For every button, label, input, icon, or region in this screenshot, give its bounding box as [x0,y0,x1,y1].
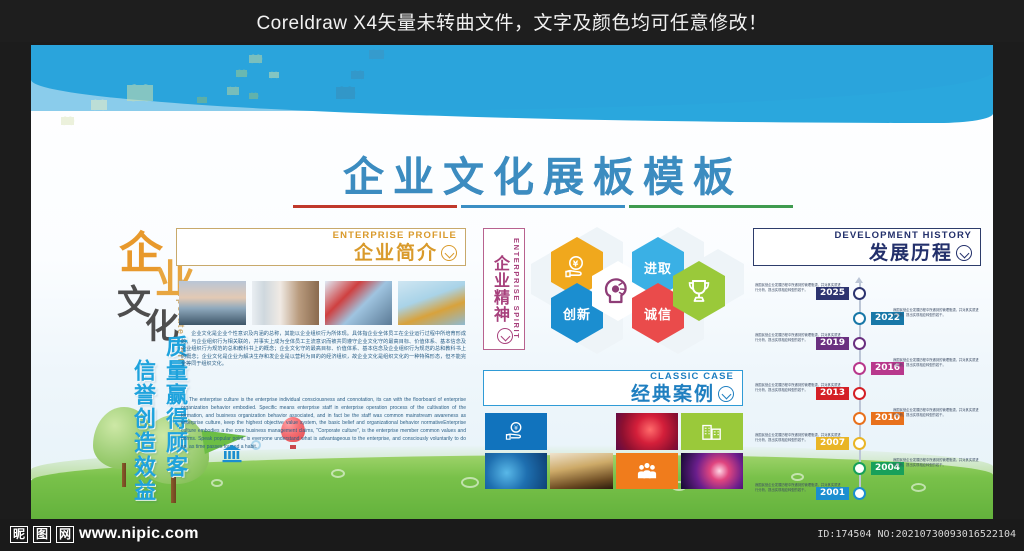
page-title-text: 企业文化展板模板 [293,157,793,198]
butterfly-icon [249,93,258,99]
top-banner: Coreldraw X4矢量未转曲文件，文字及颜色均可任意修改！ [0,0,1024,42]
timeline-desc: 我国民营企业发展历程中所遇到的管理瓶颈，并对其实质进行分析，提出实现相应转型的若… [893,358,979,368]
timeline-row[interactable]: 2010 我国民营企业发展历程中所遇到的管理瓶颈，并对其实质进行分析，提出实现相… [753,408,981,430]
chevron-down-circle-icon[interactable] [497,328,513,344]
timeline-node [853,412,866,425]
hex-label-innovation: 创新 [563,304,591,323]
chevron-down-circle-icon[interactable] [718,386,734,402]
development-history-header[interactable]: DEVELOPMENT HISTORY 发展历程 [753,228,981,266]
timeline-row[interactable]: 2016 我国民营企业发展历程中所遇到的管理瓶颈，并对其实质进行分析，提出实现相… [753,358,981,380]
photo-golden-trophy-sky [398,281,465,325]
rule-red [293,205,457,208]
page-title: 企业文化展板模板 [293,157,793,208]
timeline-row[interactable]: 我国民营企业发展历程中所遇到的管理瓶颈，并对其实质进行分析，提出实现相应转型的若… [753,383,981,405]
site-brand[interactable]: 昵 图 网 www.nipic.com [10,525,199,543]
timeline-row[interactable]: 2004 我国民营企业发展历程中所遇到的管理瓶颈，并对其实质进行分析，提出实现相… [753,458,981,480]
brand-char-ni: 昵 [10,526,28,543]
timeline-node [853,487,866,500]
timeline-desc: 我国民营企业发展历程中所遇到的管理瓶颈，并对其实质进行分析，提出实现相应转型的若… [893,458,979,468]
timeline-row[interactable]: 我国民营企业发展历程中所遇到的管理瓶颈，并对其实质进行分析，提出实现相应转型的若… [753,433,981,455]
enterprise-profile-photo-strip [179,281,465,325]
chevron-down-circle-icon[interactable] [956,245,972,261]
tile-gold-airplane[interactable] [550,413,612,450]
timeline-node [853,312,866,325]
hand-money-icon: ¥ [564,255,590,279]
classic-case-cn-title: 经典案例 [631,385,715,404]
timeline-node [853,387,866,400]
enterprise-spirit-header[interactable]: 企业精神 ENTERPRISE SPIRIT [483,228,525,350]
rule-blue [461,205,625,208]
timeline-node [853,462,866,475]
timeline-node [853,287,866,300]
timeline-row[interactable]: 我国民营企业发展历程中所遇到的管理瓶颈，并对其实质进行分析，提出实现相应转型的若… [753,483,981,505]
enterprise-profile-cn-title: 企业简介 [354,244,438,263]
enterprise-profile-header[interactable]: ENTERPRISE PROFILE 企业简介 [176,228,466,266]
poster-canvas: 企业文化展板模板 企 业 文 化 Corporate Culture 质量赢得顾… [31,45,993,519]
tile-gold-trophy-pedestal[interactable] [550,453,612,490]
butterfly-icon [236,70,247,77]
timeline-year: 2013 [816,387,849,400]
tile-buildings-icon[interactable] [681,413,743,450]
brand-char-wang: 网 [56,526,74,543]
development-history-cn-title: 发展历程 [869,244,953,263]
development-history-en-title: DEVELOPMENT HISTORY [834,231,972,241]
butterfly-icon [369,50,384,59]
hex-label-integrity: 诚信 [644,304,672,323]
chevron-down-circle-icon[interactable] [441,245,457,261]
title-underline-rules [293,205,793,208]
timeline-year: 2025 [816,287,849,300]
timeline-desc: 我国民营企业发展历程中所遇到的管理瓶颈，并对其实质进行分析，提出实现相应转型的若… [893,308,979,318]
classic-case-grid: ¥ [485,413,743,489]
tile-hand-money-icon[interactable]: ¥ [485,413,547,450]
timeline-desc: 我国民营企业发展历程中所遇到的管理瓶颈，并对其实质进行分析，提出实现相应转型的若… [893,408,979,418]
bank-icon [221,443,243,468]
butterfly-icon [61,117,74,125]
rule-green [629,205,793,208]
enterprise-profile-paragraph-cn: 企业文化是企业个性意识及内涵的总称，其能以企业组织行为所体现。具体指企业全体员工… [181,331,466,369]
trophy-icon [685,278,713,304]
timeline-node [853,362,866,375]
enterprise-spirit-cn-title: 企业精神 [487,255,511,323]
top-banner-text: Coreldraw X4矢量未转曲文件，文字及颜色均可任意修改！ [256,8,767,35]
classic-case-header[interactable]: CLASSIC CASE 经典案例 [483,370,743,406]
tile-red-star[interactable] [616,413,678,450]
photo-seascape-lighthouse [179,281,246,325]
svg-text:¥: ¥ [514,425,518,432]
timeline-year: 2007 [816,437,849,450]
profile-cn-text: 企业文化是企业个性意识及内涵的总称，其能以企业组织行为所体现。具体指企业全体员工… [181,331,466,369]
head-idea-icon [603,277,633,305]
timeline-node [853,337,866,350]
tile-globe-handshake[interactable] [485,453,547,490]
photo-businessman-red-arrow [325,281,392,325]
timeline-year: 2001 [816,487,849,500]
development-history-timeline: 我国民营企业发展历程中所遇到的管理瓶颈，并对其实质进行分析，提出实现相应转型的若… [753,277,981,495]
svg-text:¥: ¥ [573,260,580,269]
enterprise-spirit-hexagons: ¥ 创新 进取 诚信 [531,227,746,355]
butterfly-icon [227,87,239,95]
timeline-row[interactable]: 2022 我国民营企业发展历程中所遇到的管理瓶颈，并对其实质进行分析，提出实现相… [753,308,981,330]
butterfly-icon [91,100,107,110]
slogan-reputation-creates-benefit: 信誉创造效益 [127,359,159,503]
timeline-node [853,437,866,450]
butterfly-icon [249,55,262,63]
timeline-row[interactable]: 我国民营企业发展历程中所遇到的管理瓶颈，并对其实质进行分析，提出实现相应转型的若… [753,333,981,355]
enterprise-spirit-en-title: ENTERPRISE SPIRIT [512,238,521,339]
footer-bar: 昵 图 网 www.nipic.com ID:174504 NO:2021073… [0,519,1024,551]
butterfly-icon [269,72,279,78]
enterprise-profile-en-title: ENTERPRISE PROFILE [333,231,457,241]
site-url[interactable]: www.nipic.com [79,525,199,543]
hex-label-enterprising: 进取 [644,258,672,277]
asset-id-meta: ID:174504 NO:20210730093016522104 [817,529,1016,540]
butterfly-icon [336,87,355,99]
timeline-row[interactable]: 我国民营企业发展历程中所遇到的管理瓶颈，并对其实质进行分析，提出实现相应转型的若… [753,283,981,305]
brand-char-tu: 图 [33,526,51,543]
classic-case-en-title: CLASSIC CASE [631,372,734,382]
butterfly-icon [197,97,207,103]
tile-light-streaks[interactable] [681,453,743,490]
tile-team-people-icon[interactable] [616,453,678,490]
butterfly-icon [351,71,364,79]
timeline-year: 2019 [816,337,849,350]
butterfly-icon [127,85,153,101]
photo-airport-lounge [252,281,319,325]
